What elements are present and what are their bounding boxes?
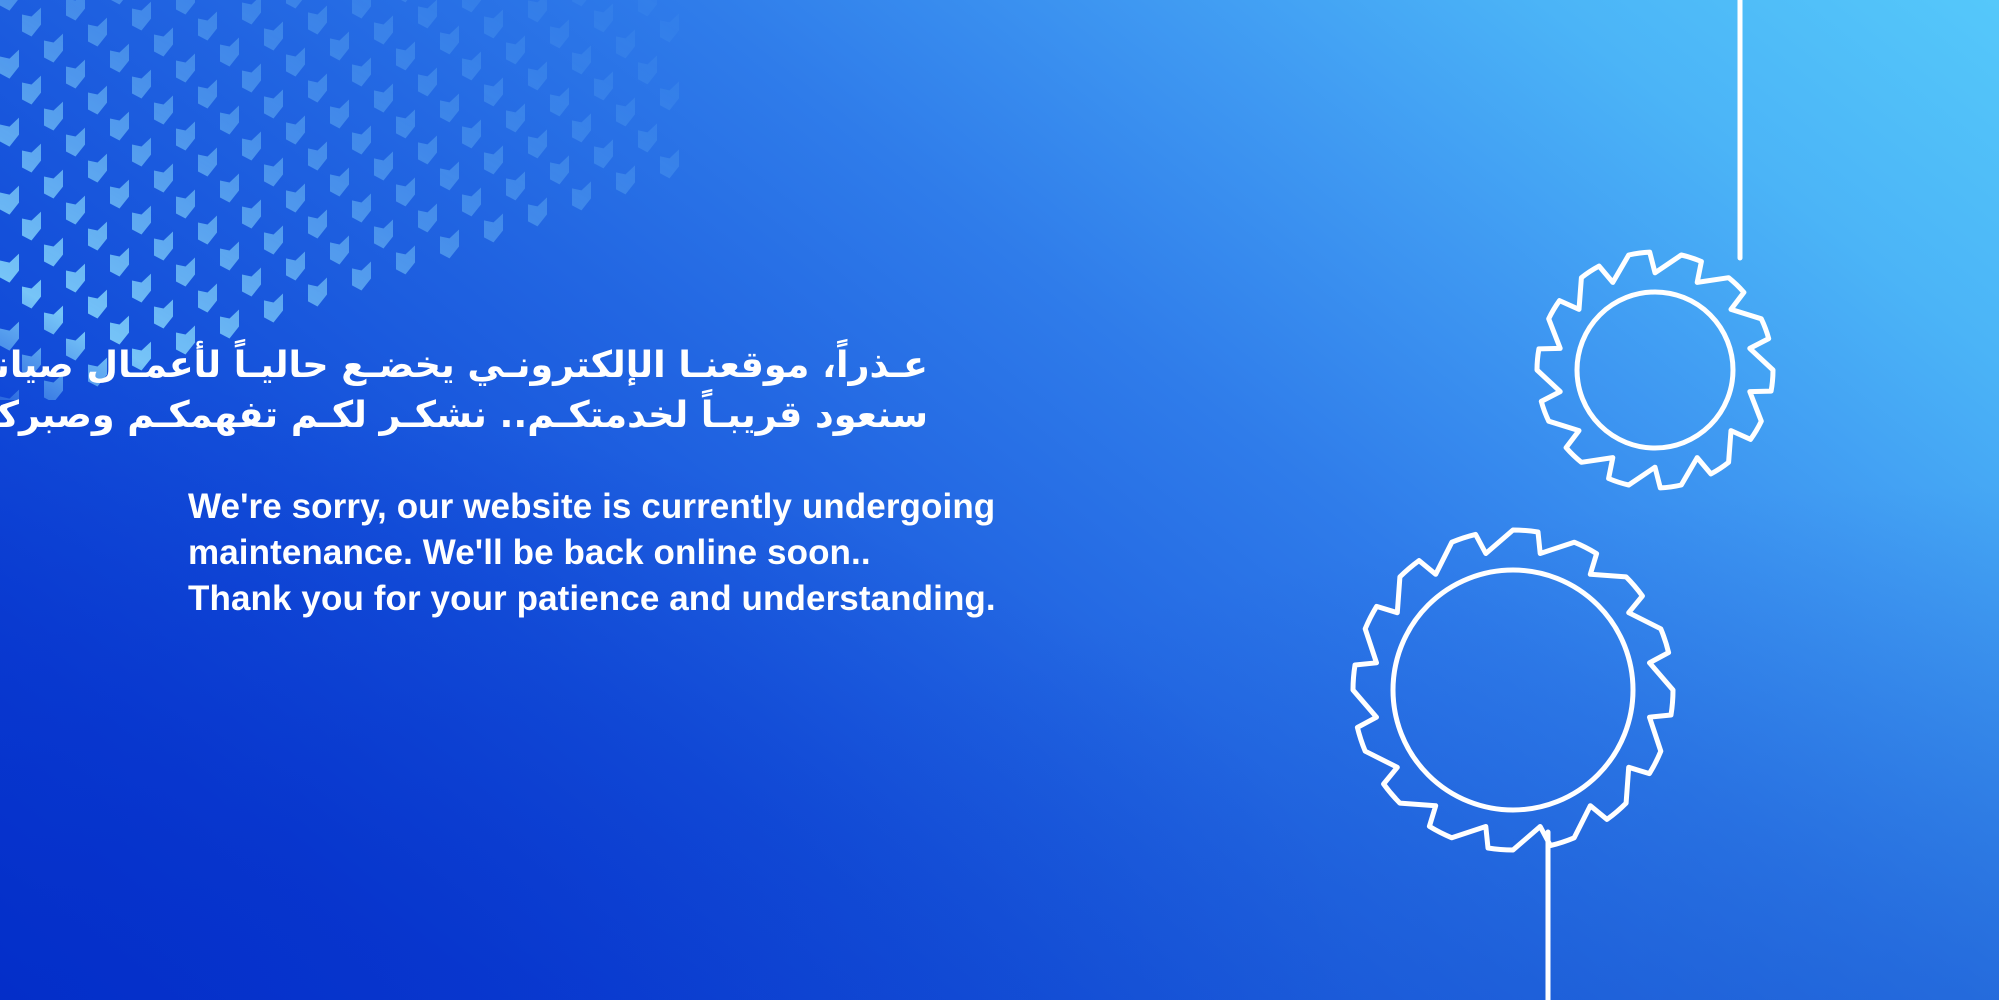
- arabic-line-1: عـذراً، موقعنـا الإلكترونـي يخضـع حاليـا…: [188, 340, 928, 390]
- gear-icon: [1537, 252, 1773, 488]
- maintenance-message: عـذراً، موقعنـا الإلكترونـي يخضـع حاليـا…: [188, 340, 1178, 622]
- arabic-message: عـذراً، موقعنـا الإلكترونـي يخضـع حاليـا…: [188, 340, 928, 440]
- gear-icon: [1353, 530, 1673, 850]
- gear-hub-circle: [1393, 570, 1633, 810]
- english-message: We're sorry, our website is currently un…: [188, 484, 1178, 622]
- english-line-2: maintenance. We'll be back online soon..: [188, 530, 1178, 576]
- gear-hub-circle: [1577, 292, 1733, 448]
- english-line-3: Thank you for your patience and understa…: [188, 576, 1178, 622]
- maintenance-page: عـذراً، موقعنـا الإلكترونـي يخضـع حاليـا…: [0, 0, 1999, 1000]
- arabic-line-2: سنعود قريبـاً لخدمتكـم.. نشكـر لكـم تفهم…: [188, 390, 928, 440]
- english-line-1: We're sorry, our website is currently un…: [188, 484, 1178, 530]
